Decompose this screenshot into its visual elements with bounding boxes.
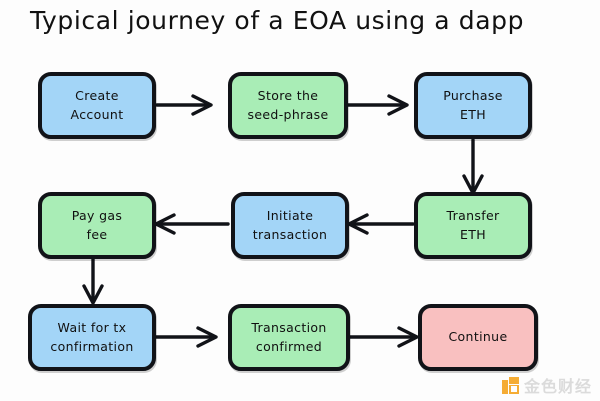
node-purchase-eth-line1: Purchase: [443, 87, 503, 105]
node-continue-line1: Continue: [448, 328, 507, 346]
edge-create-account-to-store-seed-phrase: [157, 96, 211, 114]
node-transaction-confirmed[interactable]: Transaction confirmed: [228, 304, 350, 371]
node-store-seed-phrase-line1: Store the: [247, 87, 328, 105]
edge-store-seed-phrase-to-purchase-eth: [347, 96, 407, 114]
node-store-seed-phrase[interactable]: Store the seed-phrase: [228, 72, 348, 139]
edge-purchase-eth-to-transfer-eth: [464, 140, 482, 193]
node-store-seed-phrase-line2: seed-phrase: [247, 106, 328, 124]
node-wait-for-tx-line1: Wait for tx: [50, 319, 133, 337]
jinse-logo-icon: [502, 377, 519, 394]
node-transfer-eth-line2: ETH: [446, 226, 499, 244]
watermark-text: 金色财经: [524, 373, 592, 397]
node-pay-gas-fee-line1: Pay gas: [72, 207, 123, 225]
node-create-account-line1: Create: [71, 87, 124, 105]
node-wait-for-tx-line2: confirmation: [50, 338, 133, 356]
node-transfer-eth-line1: Transfer: [446, 207, 499, 225]
edge-transaction-confirmed-to-continue: [349, 328, 417, 346]
edge-transfer-eth-to-initiate-transaction: [349, 215, 413, 233]
edge-initiate-transaction-to-pay-gas-fee: [156, 215, 228, 233]
node-initiate-transaction-line2: transaction: [253, 226, 327, 244]
edge-wait-for-tx-to-transaction-confirmed: [155, 328, 216, 346]
node-continue[interactable]: Continue: [418, 304, 538, 371]
node-pay-gas-fee[interactable]: Pay gas fee: [38, 192, 156, 259]
node-create-account-line2: Account: [71, 106, 124, 124]
node-initiate-transaction[interactable]: Initiate transaction: [231, 192, 349, 259]
node-transaction-confirmed-line2: confirmed: [251, 338, 326, 356]
diagram-canvas: Typical journey of a EOA using a dapp: [0, 0, 600, 401]
node-purchase-eth-line2: ETH: [443, 106, 503, 124]
node-purchase-eth[interactable]: Purchase ETH: [414, 72, 532, 139]
node-transfer-eth[interactable]: Transfer ETH: [414, 192, 532, 259]
node-create-account[interactable]: Create Account: [38, 72, 156, 139]
node-pay-gas-fee-line2: fee: [72, 226, 123, 244]
watermark: 金色财经: [502, 373, 592, 397]
edge-pay-gas-fee-to-wait-for-tx: [84, 258, 102, 303]
node-transaction-confirmed-line1: Transaction: [251, 319, 326, 337]
node-initiate-transaction-line1: Initiate: [253, 207, 327, 225]
page-title: Typical journey of a EOA using a dapp: [30, 6, 590, 35]
node-wait-for-tx-confirmation[interactable]: Wait for tx confirmation: [28, 304, 156, 371]
